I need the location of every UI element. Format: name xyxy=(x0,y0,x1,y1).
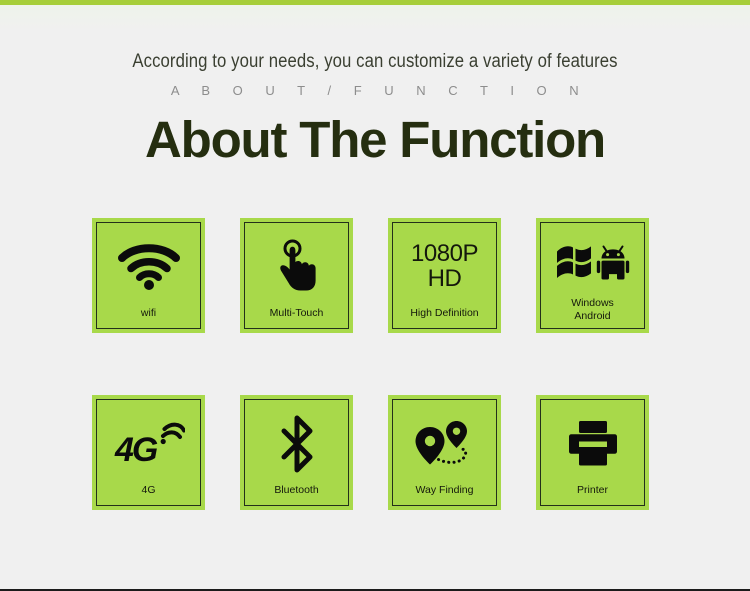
feature-tile-way-finding[interactable]: Way Finding xyxy=(388,395,501,510)
header-tagline: According to your needs, you can customi… xyxy=(45,50,705,74)
feature-grid: wifi Multi-Touch xyxy=(92,218,650,510)
tile-label: Bluetooth xyxy=(244,484,349,506)
4g-signal-icon: 4G xyxy=(96,399,201,484)
tile-label: wifi xyxy=(96,307,201,329)
printer-icon xyxy=(540,399,645,484)
windows-android-icon xyxy=(540,222,645,297)
feature-tile-printer[interactable]: Printer xyxy=(536,395,649,510)
resolution-text: 1080P HD xyxy=(392,222,497,307)
page-header: According to your needs, you can customi… xyxy=(0,50,750,169)
feature-tile-multi-touch[interactable]: Multi-Touch xyxy=(240,218,353,333)
tile-label-line1: Windows xyxy=(540,297,645,310)
feature-tile-wifi[interactable]: wifi xyxy=(92,218,205,333)
feature-row-1: wifi Multi-Touch xyxy=(92,218,650,333)
tile-label: Multi-Touch xyxy=(244,307,349,329)
android-logo-icon xyxy=(596,246,628,279)
tile-label: Printer xyxy=(540,484,645,506)
feature-row-2: 4G 4G xyxy=(92,395,650,510)
resolution-line2: HD xyxy=(428,267,462,291)
top-gradient-fade xyxy=(0,5,750,31)
map-pins-route-icon xyxy=(392,399,497,484)
tile-label: Windows Android xyxy=(540,297,645,329)
header-eyebrow: A B O U T / F U N C T I O N xyxy=(0,82,750,100)
feature-tile-bluetooth[interactable]: Bluetooth xyxy=(240,395,353,510)
feature-tile-os[interactable]: Windows Android xyxy=(536,218,649,333)
touch-hand-icon xyxy=(244,222,349,307)
svg-text:4G: 4G xyxy=(114,431,158,469)
page-root: According to your needs, you can customi… xyxy=(0,0,750,591)
tile-label: 4G xyxy=(96,484,201,506)
tile-label: High Definition xyxy=(392,307,497,329)
resolution-line1: 1080P xyxy=(411,242,478,266)
wifi-icon xyxy=(96,222,201,307)
feature-tile-hd[interactable]: 1080P HD High Definition xyxy=(388,218,501,333)
windows-logo-icon xyxy=(557,246,591,278)
page-title: About The Function xyxy=(0,111,750,169)
bluetooth-icon xyxy=(244,399,349,484)
feature-tile-4g[interactable]: 4G 4G xyxy=(92,395,205,510)
tile-label: Way Finding xyxy=(392,484,497,506)
tile-label-line2: Android xyxy=(540,310,645,323)
